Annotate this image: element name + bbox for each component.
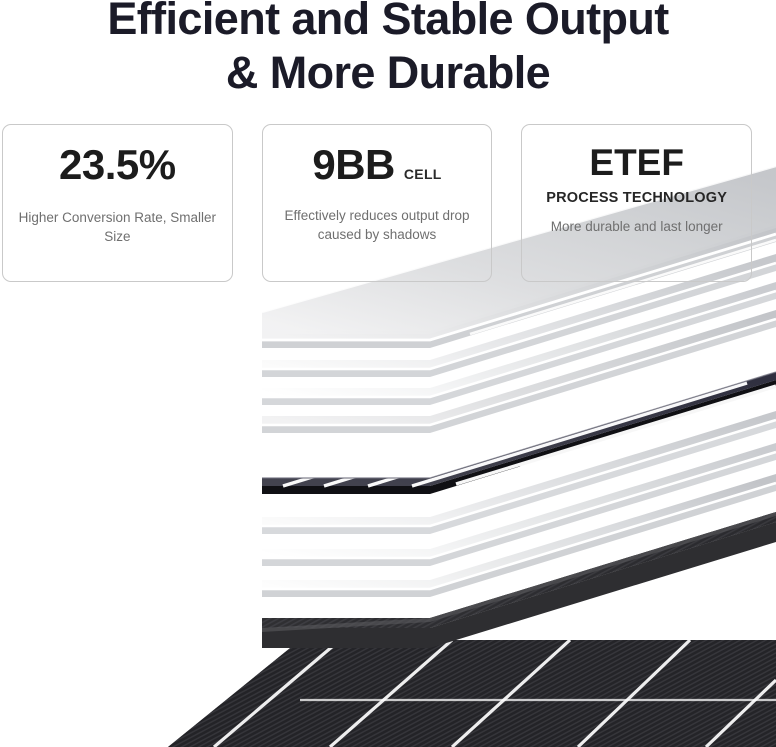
backsheet-layer [262,512,776,648]
card-value-row: 9BB CELL [312,144,441,186]
card-value: 23.5% [59,144,176,186]
feature-card-conversion-rate[interactable]: 23.5% Higher Conversion Rate, Smaller Si… [2,124,233,282]
card-value: ETEF [589,144,684,181]
card-value-suffix: CELL [404,166,442,182]
slide-canvas: Efficient and Stable Output & More Durab… [0,0,776,747]
card-subtitle: PROCESS TECHNOLOGY [546,190,727,206]
feature-card-row: 23.5% Higher Conversion Rate, Smaller Si… [2,124,752,282]
card-value-row: 23.5% [59,144,176,186]
card-description: Effectively reduces output drop caused b… [263,206,492,244]
card-value-row: ETEF [589,144,684,181]
page-title: Efficient and Stable Output & More Durab… [0,0,776,100]
exploded-solar-panel-illustration [0,0,776,747]
card-value: 9BB [312,144,395,186]
feature-card-busbar-cell[interactable]: 9BB CELL Effectively reduces output drop… [262,124,493,282]
card-description: More durable and last longer [537,217,737,236]
solar-cell-layer [262,372,776,494]
encapsulant-layers-lower [262,411,776,597]
module-base-layer [168,640,776,747]
feature-card-etef-process[interactable]: ETEF PROCESS TECHNOLOGY More durable and… [521,124,752,282]
card-description: Higher Conversion Rate, Smaller Size [3,208,232,246]
